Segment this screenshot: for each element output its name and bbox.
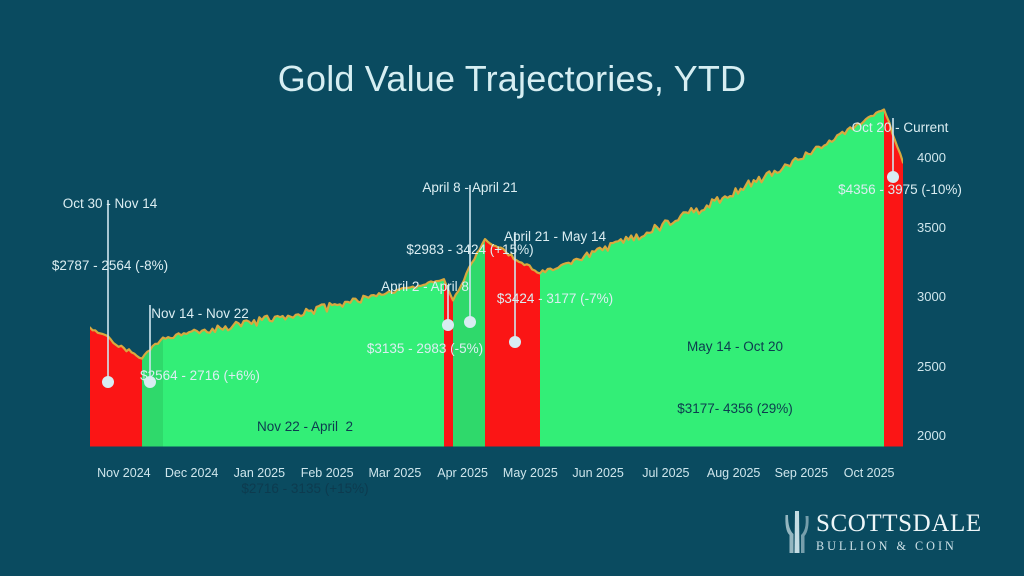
annotation-seg-3-line2: $2716 - 3135 (+15%) [215, 480, 395, 498]
y-axis-tick-4: 4000 [917, 150, 946, 165]
annotation-seg-8: Oct 20 - Current $4356 - 3975 (-10%) [805, 76, 995, 242]
annotation-seg-8-line1: Oct 20 - Current [805, 119, 995, 137]
y-axis-tick-3: 3500 [917, 220, 946, 235]
brand-tagline: BULLION & COIN [816, 540, 982, 552]
y-axis-tick-2: 3000 [917, 289, 946, 304]
annotation-seg-7-line1: May 14 - Oct 20 [640, 338, 830, 356]
annotation-seg-7-line2: $3177- 4356 (29%) [640, 400, 830, 418]
annotation-seg-6-line1: April 21 - May 14 [460, 228, 650, 246]
y-axis-tick-0: 2000 [917, 428, 946, 443]
brand-logo: SCOTTSDALE BULLION & COIN [782, 503, 992, 561]
annotation-seg-1-line1: Oct 30 - Nov 14 [20, 195, 200, 213]
annotation-seg-6-line2: $3424 - 3177 (-7%) [460, 290, 650, 308]
brand-wordmark: SCOTTSDALE BULLION & COIN [816, 511, 982, 552]
annotation-seg-6: April 21 - May 14 $3424 - 3177 (-7%) [460, 185, 650, 351]
infographic-canvas: Gold Value Trajectories, YTD [0, 0, 1024, 576]
annotation-seg-3-line1: Nov 22 - April 2 [215, 418, 395, 436]
cactus-icon [782, 509, 812, 555]
x-axis-tick-11: Oct 2025 [819, 466, 919, 480]
annotation-seg-8-line2: $4356 - 3975 (-10%) [805, 181, 995, 199]
annotation-seg-7: May 14 - Oct 20 $3177- 4356 (29%) [640, 295, 830, 461]
brand-name: SCOTTSDALE [816, 511, 982, 536]
annotation-seg-2-line1: Nov 14 - Nov 22 [110, 305, 290, 323]
y-axis-tick-1: 2500 [917, 359, 946, 374]
